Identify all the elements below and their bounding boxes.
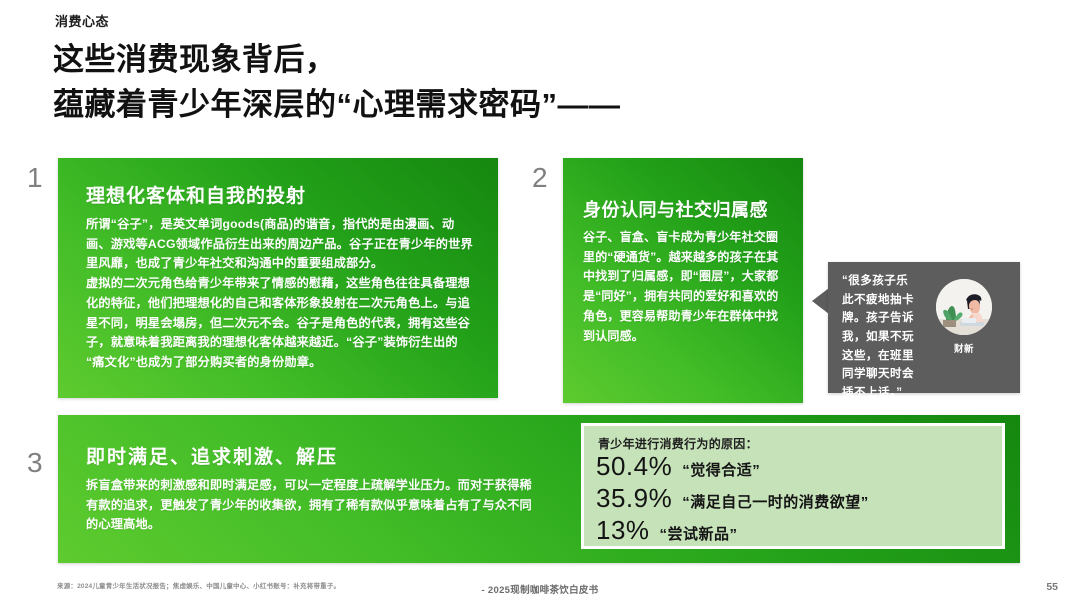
stat-value: 50.4%: [596, 453, 672, 479]
card-3-title: 即时满足、追求刺激、解压: [86, 447, 541, 470]
quote-callout: “很多孩子乐此不疲地抽卡牌。孩子告诉我，如果不玩这些，在班里同学聊天时会插不上话…: [828, 262, 1020, 393]
stat-value: 35.9%: [596, 485, 672, 511]
slide-headline: 这些消费现象背后， 蕴藏着青少年深层的“心理需求密码”——: [53, 38, 621, 127]
card-1-content: 理想化客体和自我的投射 所谓“谷子”，是英文单词goods(商品)的谐音，指代的…: [86, 186, 476, 373]
stats-list: 50.4% “觉得合适” 35.9% “满足自己一时的消费欲望” 13% “尝试…: [596, 453, 869, 549]
footer-page-number: 55: [1046, 581, 1058, 593]
card-3-body: 拆盲盒带来的刺激感和即时满足感，可以一定程度上疏解学业压力。而对于获得稀有款的追…: [86, 476, 541, 535]
card-2-title: 身份认同与社交归属感: [583, 200, 788, 222]
stats-caption: 青少年进行消费行为的原因：: [598, 435, 758, 452]
card-2-content: 身份认同与社交归属感 谷子、盲盒、盲卡成为青少年社交圈里的“硬通货”。越来越多的…: [583, 200, 788, 347]
stat-label: “满足自己一时的消费欲望”: [682, 495, 869, 510]
stat-label: “觉得合适”: [682, 463, 760, 478]
quote-attribution: 财新: [936, 341, 992, 355]
card-number-2: 2: [532, 164, 548, 192]
stat-row: 50.4% “觉得合适”: [596, 453, 869, 485]
quote-text: “很多孩子乐此不疲地抽卡牌。孩子告诉我，如果不玩这些，在班里同学聊天时会插不上话…: [842, 272, 920, 402]
stat-row: 35.9% “满足自己一时的消费欲望”: [596, 485, 869, 517]
slide-canvas: 消费心态 这些消费现象背后， 蕴藏着青少年深层的“心理需求密码”—— 1 2 3…: [0, 0, 1080, 608]
card-number-3: 3: [27, 449, 43, 477]
insight-card-2: 身份认同与社交归属感 谷子、盲盒、盲卡成为青少年社交圈里的“硬通货”。越来越多的…: [563, 158, 803, 403]
stat-value: 13%: [596, 517, 650, 543]
stat-label: “尝试新品”: [660, 527, 738, 542]
quote-bubble-tail-icon: [812, 288, 829, 314]
insight-card-1: 理想化客体和自我的投射 所谓“谷子”，是英文单词goods(商品)的谐音，指代的…: [58, 158, 498, 398]
footer-document-title: - 2025现制咖啡茶饮白皮书: [0, 582, 1080, 596]
stat-row: 13% “尝试新品”: [596, 517, 869, 549]
card-2-body: 谷子、盲盒、盲卡成为青少年社交圈里的“硬通货”。越来越多的孩子在其中找到了归属感…: [583, 228, 788, 347]
slide-eyebrow: 消费心态: [55, 11, 109, 30]
card-1-body: 所谓“谷子”，是英文单词goods(商品)的谐音，指代的是由漫画、动画、游戏等A…: [86, 215, 476, 373]
card-number-1: 1: [27, 164, 43, 192]
stats-panel: 青少年进行消费行为的原因： 50.4% “觉得合适” 35.9% “满足自己一时…: [581, 423, 1005, 549]
woman-at-laptop-avatar-icon: [936, 279, 992, 335]
card-3-content: 即时满足、追求刺激、解压 拆盲盒带来的刺激感和即时满足感，可以一定程度上疏解学业…: [86, 447, 541, 535]
card-1-title: 理想化客体和自我的投射: [86, 186, 476, 209]
